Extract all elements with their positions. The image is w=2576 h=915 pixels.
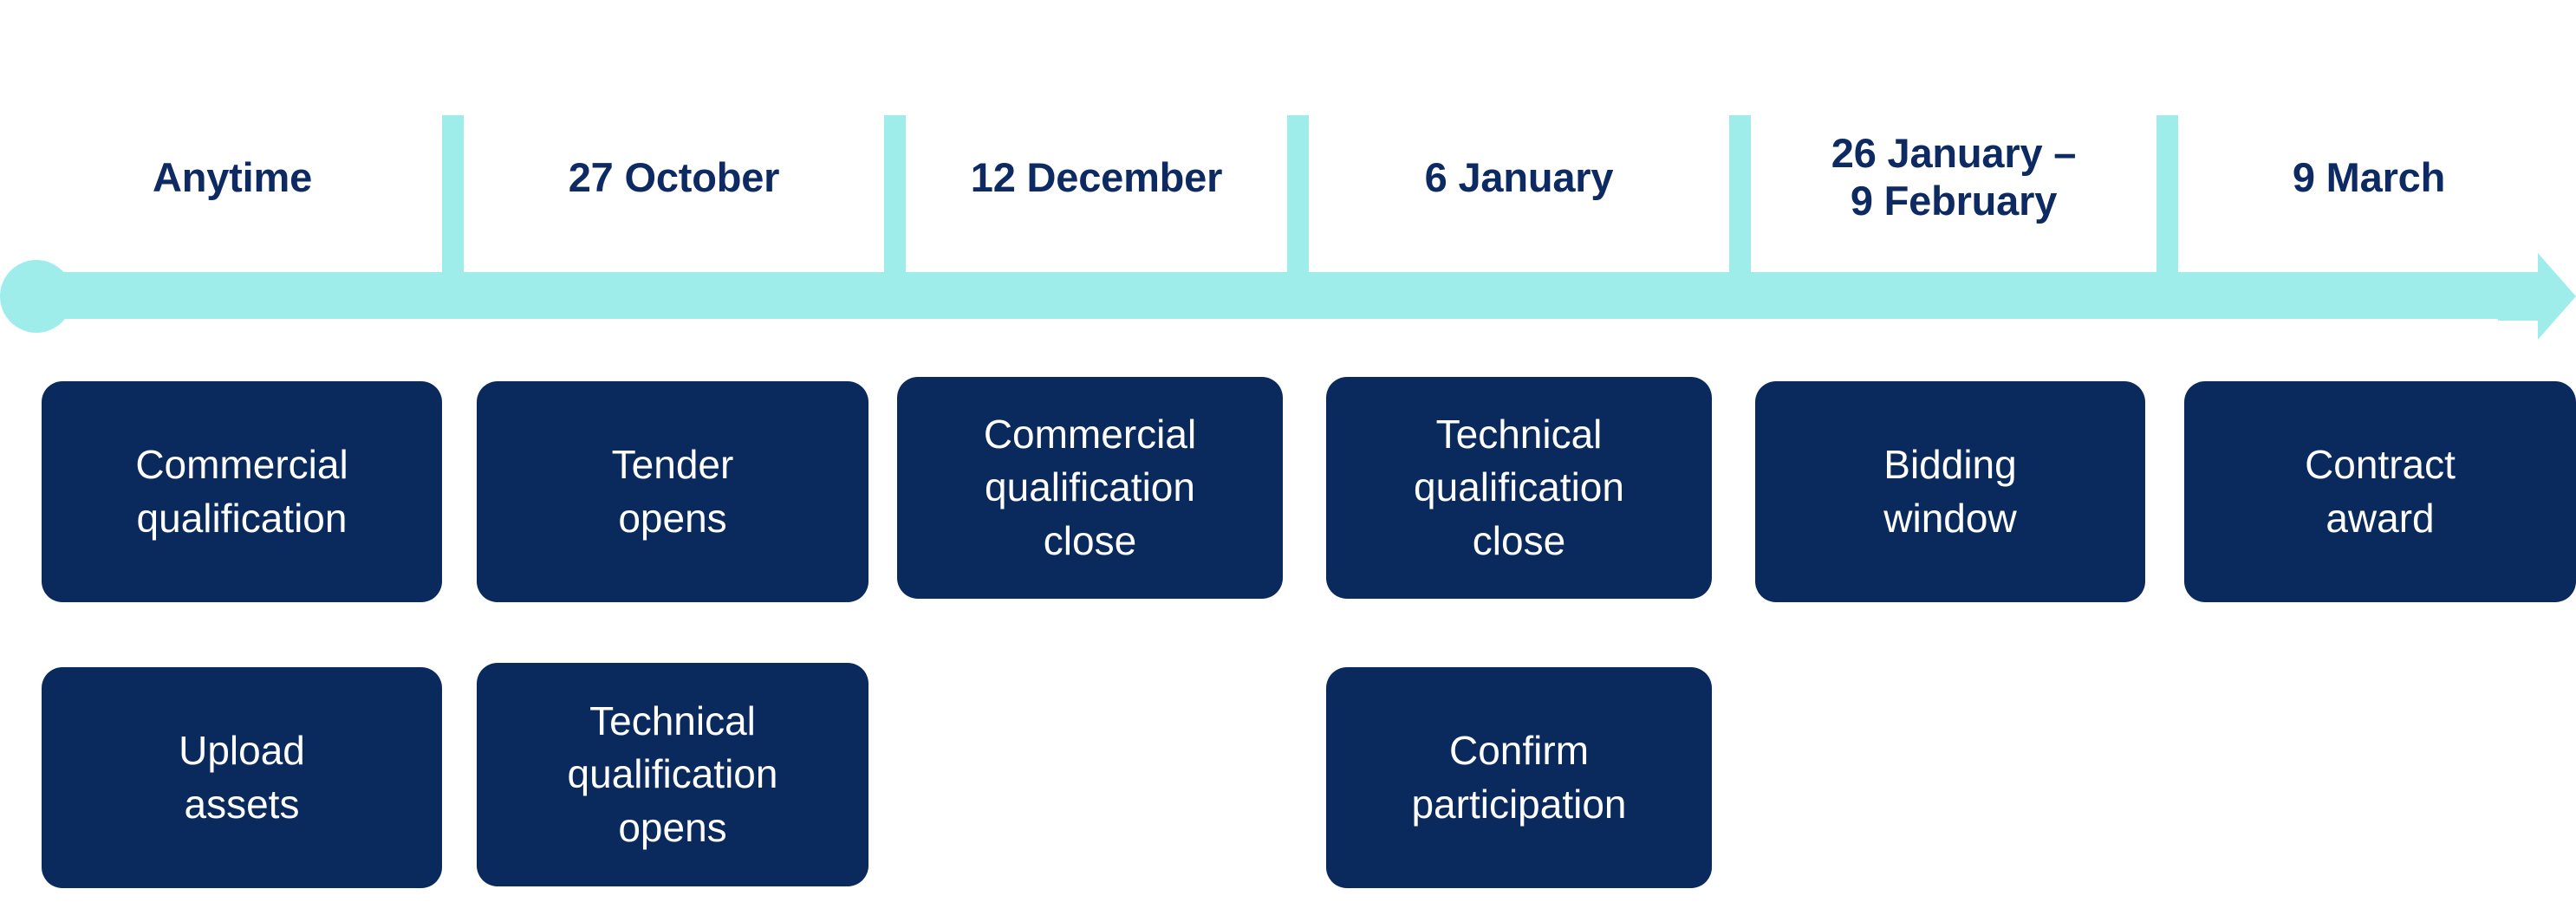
timeline-tick-5: [2156, 115, 2178, 284]
card-line: assets: [185, 782, 300, 827]
milestone-card-label: Upload assets: [54, 724, 430, 830]
date-line: 9 March: [2293, 154, 2445, 200]
date-line: Anytime: [153, 154, 312, 200]
milestone-card-bidding-window[interactable]: Bidding window: [1755, 381, 2145, 602]
card-line: award: [2326, 496, 2434, 541]
milestone-card-technical-qualification-opens[interactable]: Technical qualification opens: [477, 663, 868, 886]
milestone-card-contract-award[interactable]: Contract award: [2184, 381, 2576, 602]
card-line: Technical: [589, 698, 756, 743]
card-line: Commercial: [135, 442, 348, 487]
card-line: Bidding: [1883, 442, 2016, 487]
timeline-end-arrow-icon: [2498, 253, 2576, 340]
card-line: Confirm: [1449, 728, 1589, 773]
card-line: qualification: [568, 751, 778, 796]
milestone-card-label: Bidding window: [1767, 438, 2133, 544]
card-line: Technical: [1436, 412, 1603, 457]
timeline-tick-1: [442, 115, 464, 284]
milestone-card-confirm-participation[interactable]: Confirm participation: [1326, 667, 1712, 888]
milestone-card-label: Tender opens: [489, 438, 856, 544]
date-label-9-march: 9 March: [2178, 121, 2560, 234]
date-label-12-december: 12 December: [906, 121, 1287, 234]
date-line: 26 January –: [1831, 130, 2076, 178]
timeline-start-dot-icon: [0, 260, 73, 333]
card-line: qualification: [137, 496, 348, 541]
date-line: 12 December: [971, 154, 1222, 200]
date-line: 9 February: [1831, 178, 2076, 225]
milestone-card-label: Commercial qualification: [54, 438, 430, 544]
date-label-26-january-9-february: 26 January – 9 February: [1751, 121, 2156, 234]
card-line: Commercial: [984, 412, 1196, 457]
card-line: participation: [1411, 782, 1626, 827]
date-label-anytime: Anytime: [23, 121, 442, 234]
milestone-card-upload-assets[interactable]: Upload assets: [42, 667, 442, 888]
milestone-card-tender-opens[interactable]: Tender opens: [477, 381, 868, 602]
date-line: 27 October: [569, 154, 780, 200]
timeline-tick-3: [1287, 115, 1309, 284]
card-line: qualification: [1414, 464, 1624, 509]
milestone-card-label: Commercial qualification close: [909, 408, 1271, 568]
milestone-card-label: Contract award: [2196, 438, 2564, 544]
timeline-tick-2: [884, 115, 906, 284]
milestone-card-technical-qualification-close[interactable]: Technical qualification close: [1326, 377, 1712, 599]
card-line: opens: [618, 496, 726, 541]
timeline-tick-4: [1729, 115, 1751, 284]
milestone-card-label: Technical qualification opens: [489, 695, 856, 854]
card-line: close: [1473, 518, 1565, 563]
card-line: opens: [618, 805, 726, 850]
card-line: qualification: [985, 464, 1195, 509]
date-line: 6 January: [1425, 154, 1614, 200]
milestone-card-label: Technical qualification close: [1338, 408, 1700, 568]
milestone-card-commercial-qualification-close[interactable]: Commercial qualification close: [897, 377, 1283, 599]
card-line: close: [1044, 518, 1136, 563]
date-label-6-january: 6 January: [1309, 121, 1729, 234]
date-label-27-october: 27 October: [464, 121, 884, 234]
card-line: Contract: [2305, 442, 2456, 487]
card-line: Tender: [612, 442, 734, 487]
milestone-card-label: Confirm participation: [1338, 724, 1700, 830]
card-line: Upload: [179, 728, 305, 773]
milestone-card-commercial-qualification[interactable]: Commercial qualification: [42, 381, 442, 602]
card-line: window: [1883, 496, 2016, 541]
timeline-diagram: Anytime 27 October 12 December 6 January…: [0, 0, 2576, 915]
